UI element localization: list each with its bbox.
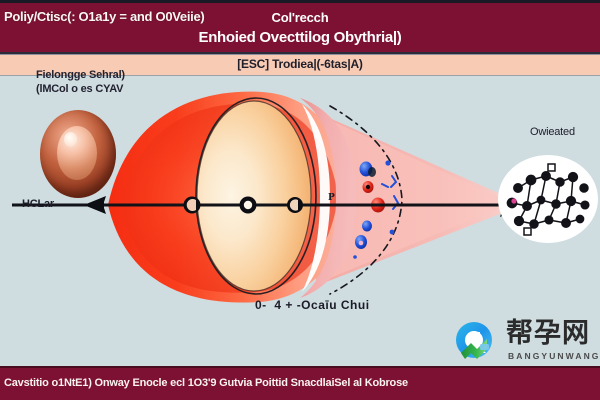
follicle-label-line2: (lMCol o es CYAV (36, 82, 125, 96)
ovulated-oocyte-cluster (498, 155, 598, 243)
footer-caption: Cavstitio o1NtE1) Onway Enocle ecl 1O3'9… (4, 377, 408, 389)
header-title-center-line1: Col'recch (0, 10, 600, 25)
sphere-inner-highlight (57, 126, 97, 180)
axis-annotation-label: 0- ­ 4 + -Ocaīu Chui (255, 298, 370, 312)
follicle-label-line1: Fielongge Sehral) (36, 68, 125, 82)
logo-english-text: BANGYUNWANG (508, 351, 600, 361)
sphere-specular-highlight (64, 132, 77, 147)
logo-q-mark-icon (450, 320, 502, 364)
logo-chinese-text: 帮孕网 (506, 319, 590, 349)
header-bar: Poliy/Ctisc(: O1a1y = and O0Veiie) Col'r… (0, 0, 600, 54)
left-arrow-label: HCLar (22, 198, 54, 210)
antral-follicle-sphere (40, 110, 116, 198)
footer-bar: Cavstitio o1NtE1) Onway Enocle ecl 1O3'9… (0, 366, 600, 400)
oocyte-oval (197, 101, 311, 291)
bangyunwang-logo: 帮孕网 BANGYUNWANG (450, 320, 598, 364)
header-top-rule (0, 0, 600, 3)
ovulated-label: Owieated (530, 126, 575, 138)
header-title-center-line2: Enhoied Ovecttilog Obythria|) (0, 29, 600, 46)
diagram-screenshot: P (0, 0, 600, 400)
follicle-label: Fielongge Sehral) (lMCol o es CYAV (36, 68, 125, 96)
rim-marker-label: P (328, 193, 335, 203)
